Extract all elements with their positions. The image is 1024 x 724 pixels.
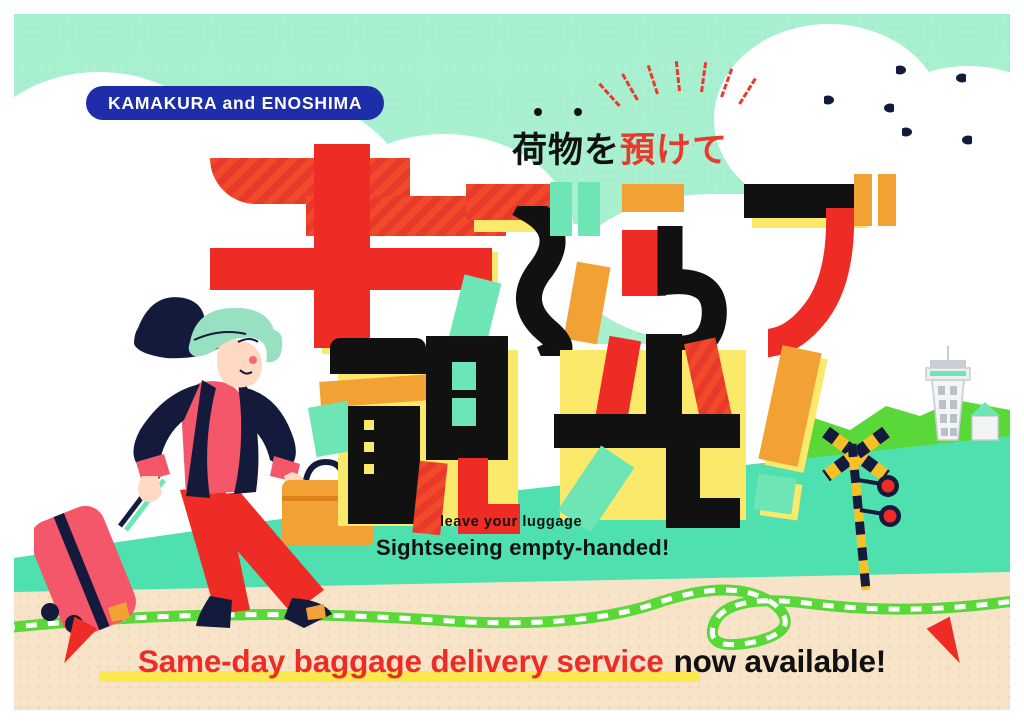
emphasis-dot (534, 108, 542, 116)
banner-plain-text: now available! (674, 643, 887, 680)
seagull-icon (824, 94, 894, 125)
kicker-red: 預けて (620, 131, 728, 171)
banner-highlight-text: Same-day baggage delivery service (138, 643, 664, 680)
headline-glyph-kan (330, 336, 550, 536)
seagull-icon (896, 64, 966, 95)
seagull-icon (902, 126, 972, 157)
poster-root: KAMAKURA and ENOSHIMA 荷物を預けて (0, 0, 1024, 724)
subtitle-large: Sightseeing empty-handed! (376, 535, 669, 561)
headline-glyph-kou (554, 332, 754, 532)
bottom-banner: Same-day baggage delivery service now av… (14, 630, 1010, 692)
kicker-black: 荷物を (512, 131, 620, 171)
emphasis-dot (574, 108, 582, 116)
region-badge[interactable]: KAMAKURA and ENOSHIMA (86, 86, 384, 120)
headline-glyph-exclamation (754, 326, 844, 516)
kicker-text: 荷物を預けて (512, 122, 728, 173)
subtitle-small: leave your luggage (440, 514, 582, 530)
poster-artwork: KAMAKURA and ENOSHIMA 荷物を預けて (14, 14, 1010, 710)
